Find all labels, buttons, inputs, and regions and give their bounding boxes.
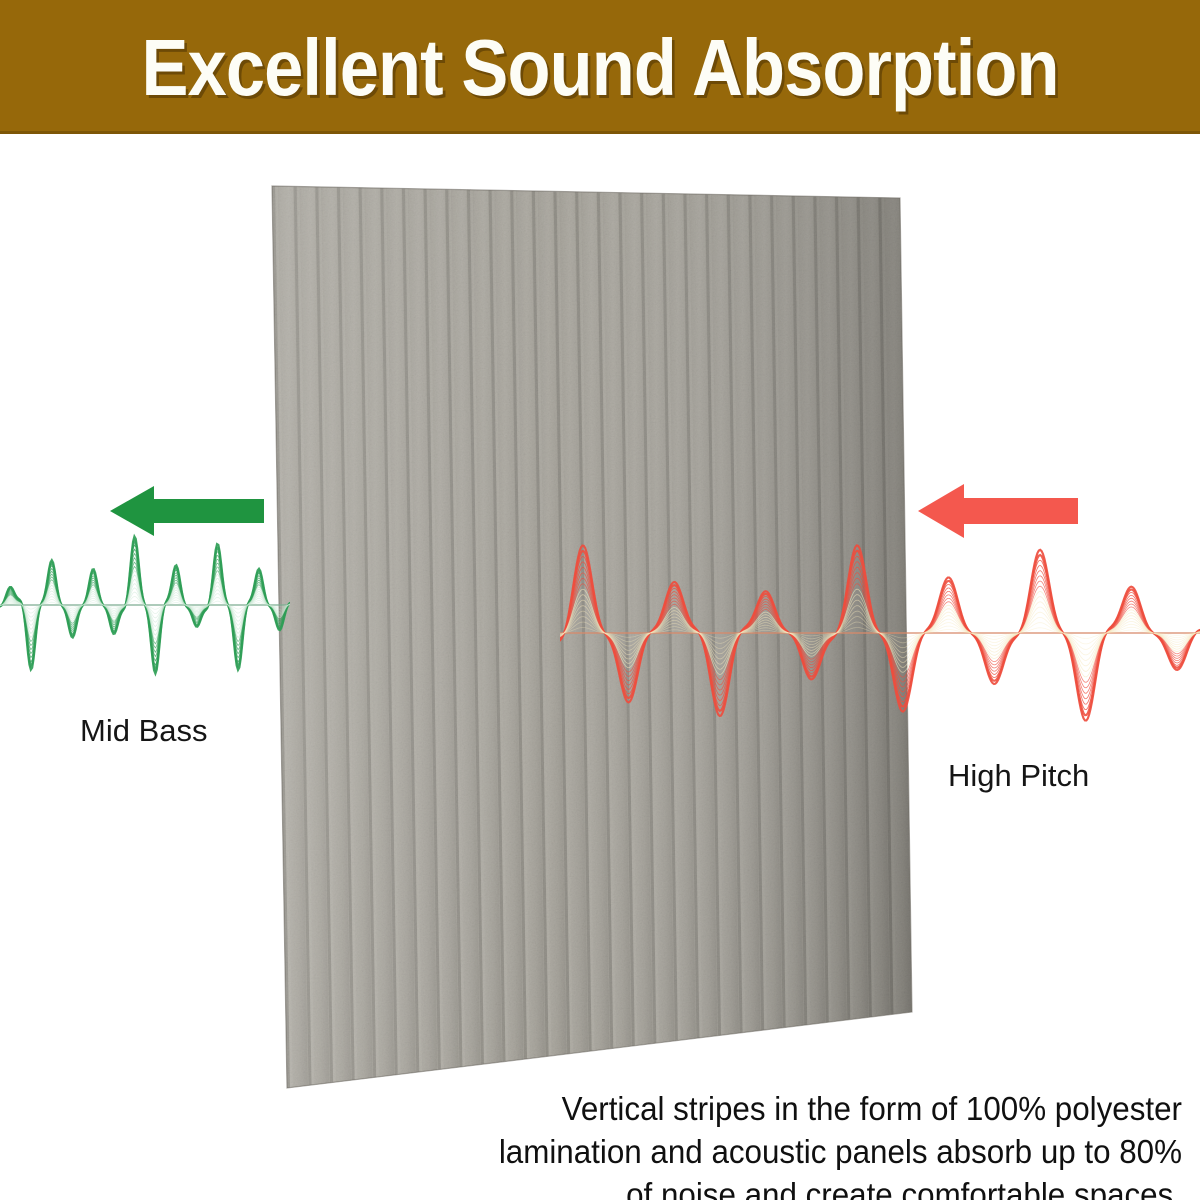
- panel-slat: [362, 188, 395, 1077]
- panel-groove: [489, 190, 507, 1062]
- panel-slat-highlight: [492, 190, 509, 1061]
- panel-slat: [448, 189, 480, 1066]
- panel-slat: [405, 189, 437, 1072]
- panel-slat-highlight: [427, 189, 444, 1069]
- caption-line-3: of noise and create comfortable spaces.: [498, 1174, 1182, 1200]
- waveform-green-svg: [0, 505, 290, 735]
- panel-groove: [380, 188, 398, 1075]
- high-pitch-label: High Pitch: [948, 758, 1089, 794]
- panel-groove: [337, 187, 356, 1080]
- header-banner: Excellent Sound Absorption: [0, 0, 1200, 134]
- panel-slat-highlight: [448, 189, 465, 1066]
- panel-groove: [315, 187, 334, 1083]
- panel-groove: [359, 188, 378, 1078]
- infographic-page: Excellent Sound Absorption: [0, 0, 1200, 1200]
- panel-slat: [513, 191, 545, 1059]
- panel-slat: [492, 190, 524, 1061]
- panel-slat: [318, 187, 351, 1083]
- caption-text: Vertical stripes in the form of 100% pol…: [498, 1088, 1182, 1200]
- panel-groove: [445, 189, 463, 1067]
- panel-slat: [340, 187, 373, 1079]
- high-pitch-waveform: [560, 505, 1200, 770]
- mid-bass-label: Mid Bass: [80, 713, 207, 749]
- panel-slat-highlight: [297, 186, 315, 1085]
- caption-line-2: lamination and acoustic panels absorb up…: [498, 1131, 1182, 1174]
- panel-slat-highlight: [383, 188, 400, 1074]
- panel-groove: [294, 186, 313, 1085]
- panel-slat-highlight: [405, 189, 422, 1072]
- panel-groove: [510, 191, 528, 1060]
- panel-groove: [532, 191, 550, 1057]
- waveform-red-svg: [560, 505, 1200, 765]
- caption-line-1: Vertical stripes in the form of 100% pol…: [498, 1088, 1182, 1131]
- panel-slat: [383, 188, 415, 1074]
- panel-groove: [467, 190, 485, 1065]
- panel-slat-highlight: [470, 190, 487, 1064]
- panel-slat: [427, 189, 459, 1069]
- panel-groove: [424, 189, 442, 1070]
- page-title: Excellent Sound Absorption: [141, 28, 1058, 108]
- panel-slat: [470, 190, 502, 1064]
- panel-slat-highlight: [513, 191, 530, 1059]
- panel-slat-highlight: [318, 187, 335, 1083]
- panel-slat-highlight: [340, 187, 357, 1079]
- panel-slat: [297, 186, 330, 1085]
- panel-groove: [402, 188, 420, 1072]
- mid-bass-waveform: [0, 505, 290, 740]
- panel-slat-highlight: [535, 191, 551, 1056]
- panel-slat-highlight: [362, 188, 379, 1077]
